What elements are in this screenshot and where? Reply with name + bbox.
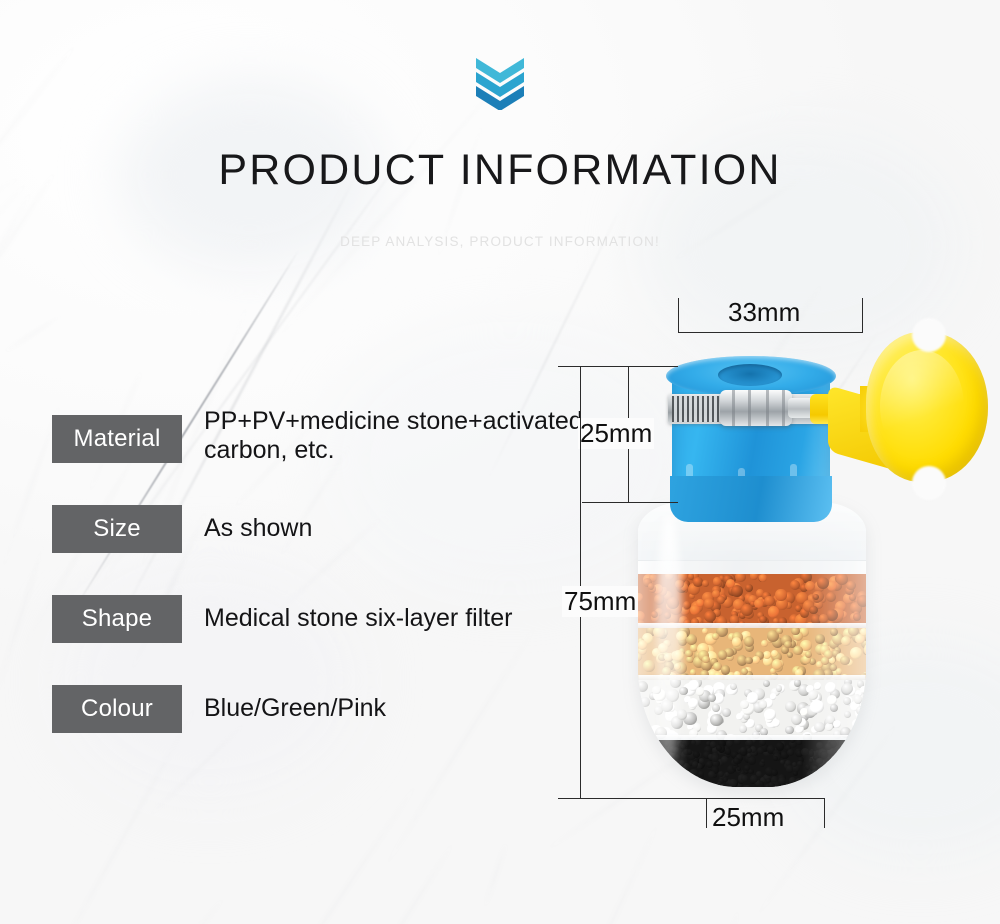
spec-row-material: Material PP+PV+medicine stone+activated … (52, 415, 612, 505)
housing-highlight (656, 514, 682, 764)
cap-inlet-hole (718, 364, 782, 386)
spec-badge-size: Size (52, 505, 182, 553)
infographic-canvas: PRODUCT INFORMATION DEEP ANALYSIS, PRODU… (0, 0, 1000, 924)
dim-line-25mm-bottom (582, 502, 678, 503)
dim-line-75mm-top (558, 366, 678, 367)
spec-row-size: Size As shown (52, 505, 612, 595)
spec-row-shape: Shape Medical stone six-layer filter (52, 595, 612, 685)
dim-tick-25mm-wleft (706, 798, 707, 828)
spec-badge-shape: Shape (52, 595, 182, 643)
dim-tick-33mm-left (678, 298, 679, 332)
dim-label-25mm-height: 25mm (578, 418, 654, 449)
spec-value-size: As shown (204, 514, 614, 543)
clamp-teeth (672, 396, 724, 422)
dim-ext-75mm (580, 366, 581, 799)
product-image: 33mm 25mm 75mm 25mm (560, 290, 1000, 870)
spec-value-material: PP+PV+medicine stone+activated carbon, e… (204, 407, 614, 464)
spec-label-material: Material (74, 427, 161, 451)
spec-badge-material: Material (52, 415, 182, 463)
cap-skirt (670, 476, 832, 522)
spec-label-colour: Colour (81, 697, 153, 721)
triple-chevron-down-icon (472, 56, 528, 110)
dim-tick-33mm-right (862, 298, 863, 332)
spec-label-shape: Shape (82, 607, 152, 631)
spec-row-colour: Colour Blue/Green/Pink (52, 685, 612, 775)
yellow-wing-handle (866, 332, 988, 482)
dim-tick-25mm-wright (824, 798, 825, 828)
dim-line-25mm-width (706, 798, 824, 799)
spec-value-shape: Medical stone six-layer filter (204, 604, 614, 633)
page-subtitle: DEEP ANALYSIS, PRODUCT INFORMATION! (0, 234, 1000, 249)
faucet-filter-illustration (560, 290, 1000, 870)
spec-list: Material PP+PV+medicine stone+activated … (52, 415, 612, 775)
spec-value-colour: Blue/Green/Pink (204, 694, 614, 723)
spec-label-size: Size (93, 517, 141, 541)
clamp-screw-housing (720, 390, 792, 426)
dim-label-33mm: 33mm (728, 297, 800, 328)
dim-line-33mm (678, 332, 863, 333)
dim-label-25mm-width: 25mm (712, 802, 784, 833)
page-title: PRODUCT INFORMATION (0, 146, 1000, 195)
dim-label-75mm: 75mm (562, 586, 638, 617)
spec-badge-colour: Colour (52, 685, 182, 733)
